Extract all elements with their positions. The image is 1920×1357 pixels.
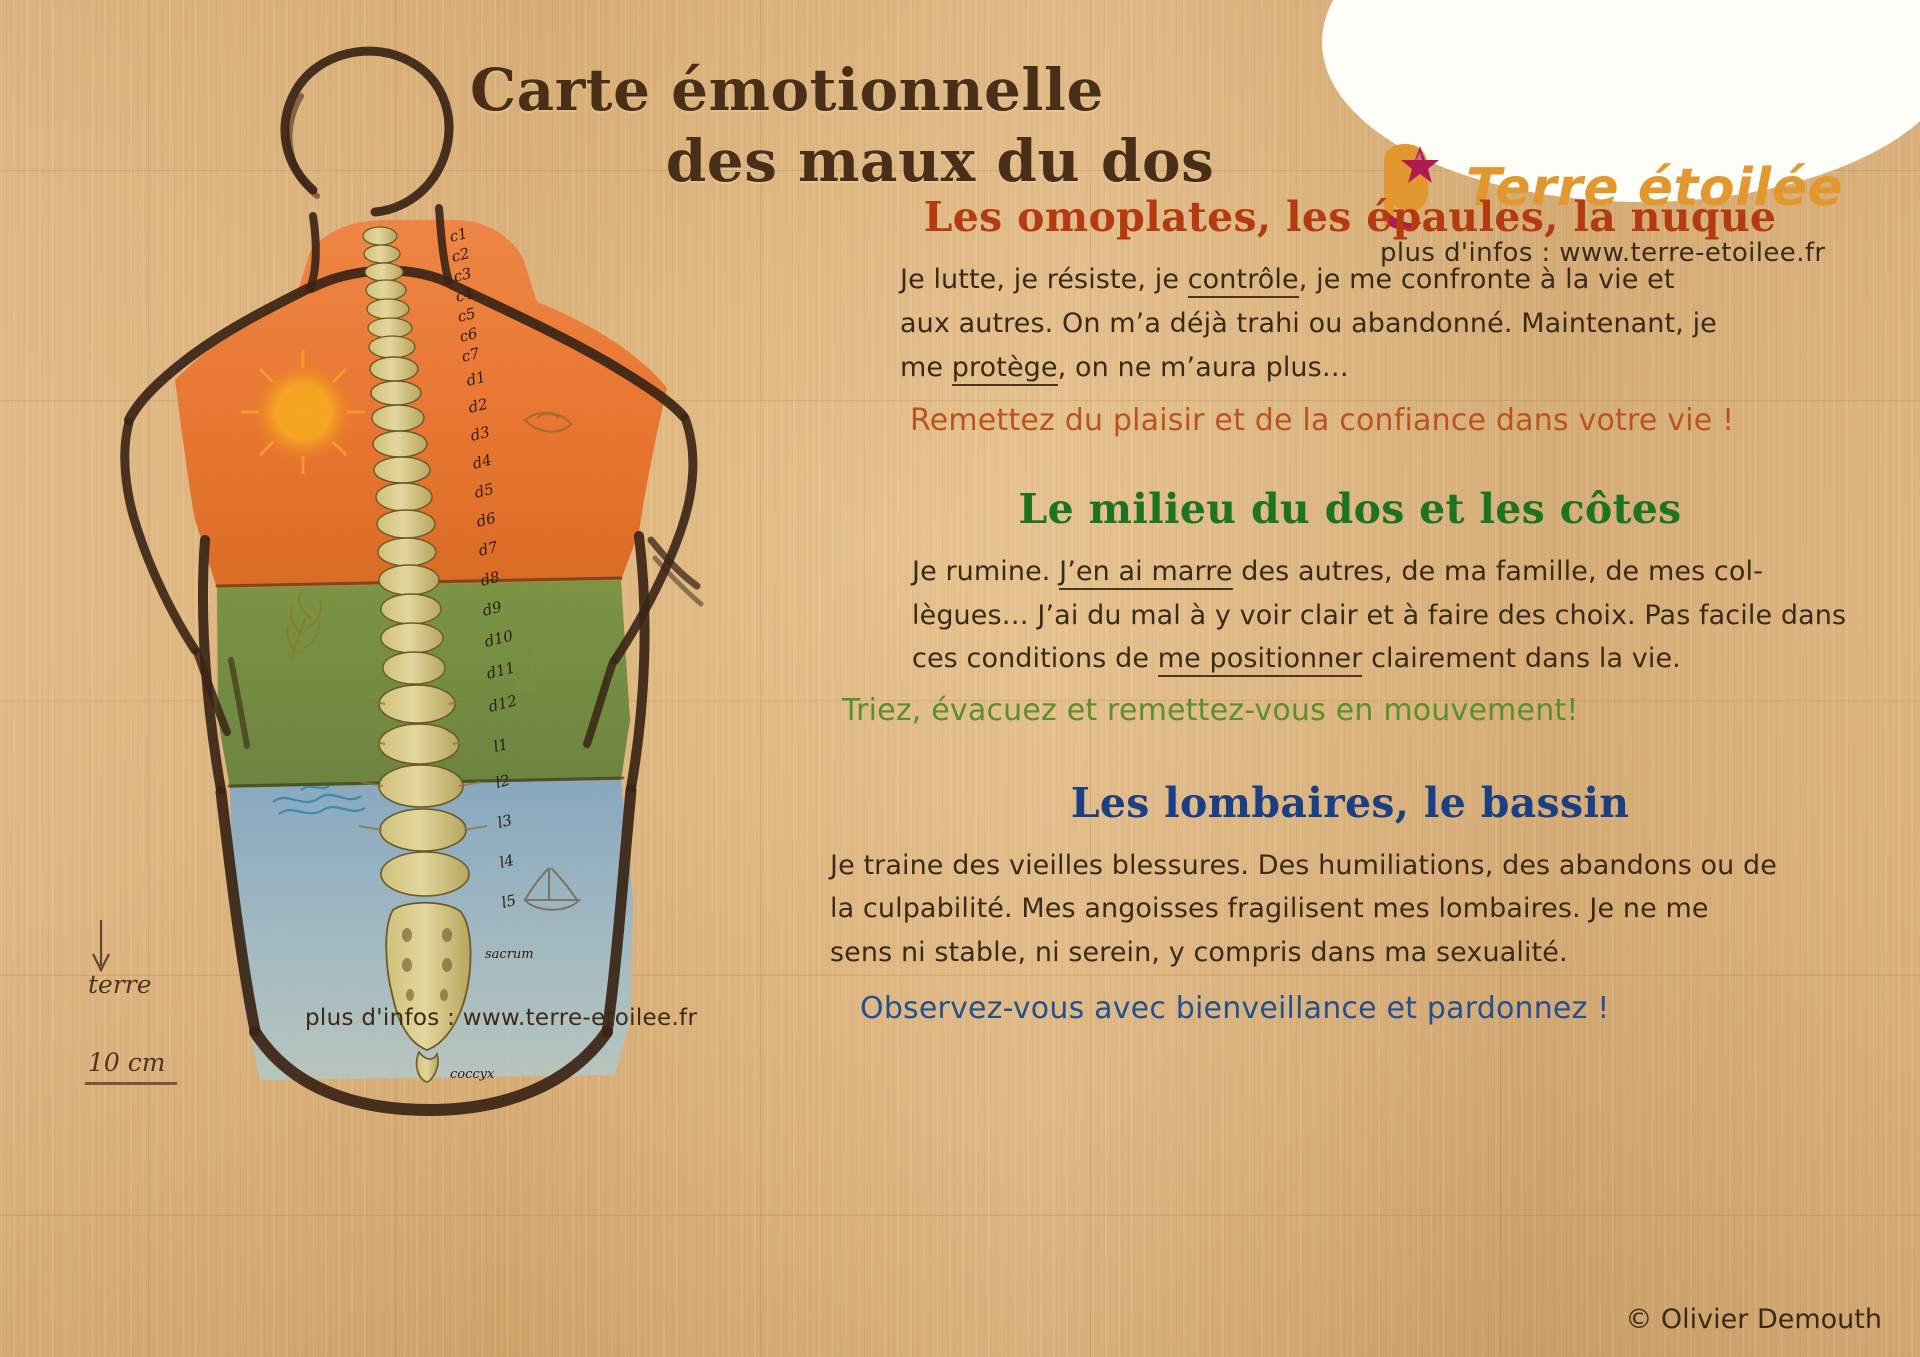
body-line: me protège, on ne m’aura plus… (900, 346, 1870, 390)
figure-url-caption: plus d'infos : www.terre-etoilee.fr (305, 1005, 697, 1031)
back-anatomy-illustration: c1 c2 c3 c4 c5 c6 c7 d1 d2 d3 d4 d5 d6 d… (55, 20, 815, 1340)
section-milieu-dos: Le milieu du dos et les côtes Je rumine.… (830, 487, 1870, 733)
section-cta-milieu-dos: Triez, évacuez et remettez-vous en mouve… (842, 689, 1870, 733)
text-run: Je rumine. (912, 556, 1059, 587)
text-run: des autres, de ma famille, de mes col- (1233, 556, 1763, 587)
text-run: Je lutte, je résiste, je (900, 264, 1188, 295)
emphasized-phrase: me positionner (1158, 643, 1363, 677)
title-line-2: des maux du dos (470, 126, 1290, 197)
earth-arrow-icon (93, 920, 109, 970)
body-line: Je rumine. J’en ai marre des autres, de … (912, 550, 1870, 594)
text-run: clairement dans la vie. (1362, 643, 1680, 674)
svg-text:coccyx: coccyx (450, 1067, 495, 1082)
text-run: ces conditions de (912, 643, 1158, 674)
emphasized-phrase: J’en ai marre (1059, 556, 1232, 590)
emphasized-phrase: contrôle (1188, 264, 1299, 298)
credit-line: © Olivier Demouth (1625, 1304, 1882, 1335)
sun-core-icon (278, 387, 328, 437)
text-run: me (900, 352, 952, 383)
body-line: Je traine des vieilles blessures. Des hu… (830, 844, 1870, 888)
text-run: lègues… J’ai du mal à y voir clair et à … (912, 600, 1846, 631)
poster-canvas: c1 c2 c3 c4 c5 c6 c7 d1 d2 d3 d4 d5 d6 d… (0, 0, 1920, 1357)
section-cta-omoplates: Remettez du plaisir et de la confiance d… (900, 399, 1870, 443)
body-line: aux autres. On m’a déjà trahi ou abandon… (900, 302, 1870, 346)
body-line: lègues… J’ai du mal à y voir clair et à … (912, 594, 1870, 638)
earth-label: terre (88, 970, 152, 999)
section-body-milieu-dos: Je rumine. J’en ai marre des autres, de … (830, 550, 1870, 733)
section-heading-omoplates: Les omoplates, les épaules, la nuque (830, 195, 1870, 240)
section-omoplates: Les omoplates, les épaules, la nuque Je … (830, 195, 1870, 443)
content-column: Les omoplates, les épaules, la nuque Je … (830, 195, 1870, 1034)
body-line: la culpabilité. Mes angoisses fragilisen… (830, 887, 1870, 931)
body-line: sens ni stable, ni serein, y compris dan… (830, 931, 1870, 975)
text-run: sens ni stable, ni serein, y compris dan… (830, 937, 1568, 968)
title-line-1: Carte émotionnelle (470, 56, 1104, 124)
section-cta-lombaires: Observez-vous avec bienveillance et pard… (860, 987, 1870, 1031)
scale-bar (85, 1082, 177, 1085)
scale-label: 10 cm (88, 1048, 165, 1077)
text-run: , je me confronte à la vie et (1299, 264, 1675, 295)
text-run: , on ne m’aura plus… (1058, 352, 1349, 383)
body-line: Je lutte, je résiste, je contrôle, je me… (900, 258, 1870, 302)
emphasized-phrase: protège (952, 352, 1058, 386)
text-run: Je traine des vieilles blessures. Des hu… (830, 850, 1777, 881)
section-heading-lombaires: Les lombaires, le bassin (830, 781, 1870, 826)
page-title: Carte émotionnelle des maux du dos (470, 55, 1290, 197)
text-run: aux autres. On m’a déjà trahi ou abandon… (900, 308, 1717, 339)
section-lombaires: Les lombaires, le bassin Je traine des v… (830, 781, 1870, 1031)
svg-text:sacrum: sacrum (485, 947, 534, 962)
section-heading-milieu-dos: Le milieu du dos et les côtes (830, 487, 1870, 532)
section-body-omoplates: Je lutte, je résiste, je contrôle, je me… (830, 258, 1870, 443)
section-body-lombaires: Je traine des vieilles blessures. Des hu… (830, 844, 1870, 1031)
text-run: la culpabilité. Mes angoisses fragilisen… (830, 893, 1709, 924)
body-line: ces conditions de me positionner clairem… (912, 637, 1870, 681)
